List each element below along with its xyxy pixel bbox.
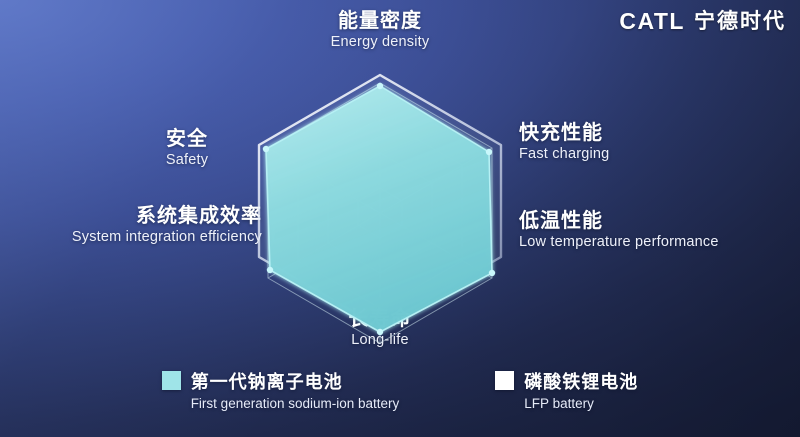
slide-canvas: CATL 宁德时代 能量密度 Energy density 快充性能 Fast … [0, 0, 800, 437]
axis-label-energy-density-en: Energy density [280, 34, 480, 50]
legend-label-sodium-ion: 第一代钠离子电池 First generation sodium-ion bat… [191, 368, 400, 411]
axis-label-fast-charging-en: Fast charging [519, 146, 729, 162]
axis-label-low-temperature-en: Low temperature performance [519, 234, 734, 250]
catl-logo: CATL 宁德时代 [619, 10, 786, 33]
legend-item-lfp: 磷酸铁锂电池 LFP battery [495, 368, 638, 411]
radar-chart [220, 55, 540, 375]
logo-latin-text: CATL [619, 10, 685, 33]
chart-legend: 第一代钠离子电池 First generation sodium-ion bat… [0, 368, 800, 411]
legend-swatch-sodium-ion [162, 371, 181, 390]
legend-label-sodium-ion-en: First generation sodium-ion battery [191, 396, 400, 411]
legend-swatch-lfp [495, 371, 514, 390]
legend-label-lfp: 磷酸铁锂电池 LFP battery [524, 368, 638, 411]
axis-label-low-temperature-cn: 低温性能 [519, 210, 734, 232]
axis-label-energy-density: 能量密度 Energy density [280, 10, 480, 51]
legend-label-sodium-ion-cn: 第一代钠离子电池 [191, 368, 400, 394]
logo-chinese-text: 宁德时代 [694, 11, 786, 32]
axis-label-energy-density-cn: 能量密度 [280, 10, 480, 32]
legend-label-lfp-cn: 磷酸铁锂电池 [524, 368, 638, 394]
legend-item-sodium-ion: 第一代钠离子电池 First generation sodium-ion bat… [162, 368, 400, 411]
axis-label-fast-charging-cn: 快充性能 [519, 122, 729, 144]
axis-label-fast-charging: 快充性能 Fast charging [519, 122, 729, 163]
legend-label-lfp-en: LFP battery [524, 396, 638, 411]
axis-label-low-temperature: 低温性能 Low temperature performance [519, 210, 734, 251]
